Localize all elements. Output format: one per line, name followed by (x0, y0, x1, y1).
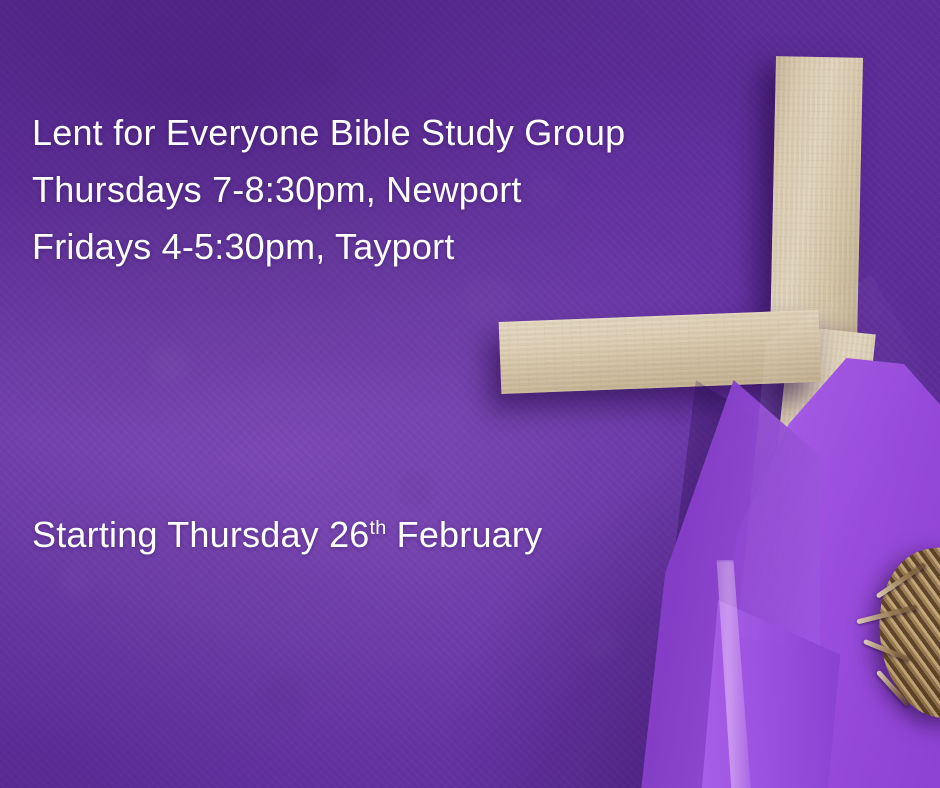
lent-bible-study-poster: Lent for Everyone Bible Study Group Thur… (0, 0, 940, 788)
start-date-line: Starting Thursday 26th February (32, 512, 542, 558)
headline-block: Lent for Everyone Bible Study Group Thur… (32, 104, 732, 275)
start-date-suffix: February (386, 514, 542, 555)
headline-line-thursdays: Thursdays 7-8:30pm, Newport (32, 161, 732, 218)
headline-line-title: Lent for Everyone Bible Study Group (32, 104, 732, 161)
start-date-prefix: Starting Thursday 26 (32, 514, 370, 555)
poster-text-layer: Lent for Everyone Bible Study Group Thur… (0, 0, 940, 788)
headline-line-fridays: Fridays 4-5:30pm, Tayport (32, 218, 732, 275)
start-date-ordinal: th (370, 517, 387, 539)
